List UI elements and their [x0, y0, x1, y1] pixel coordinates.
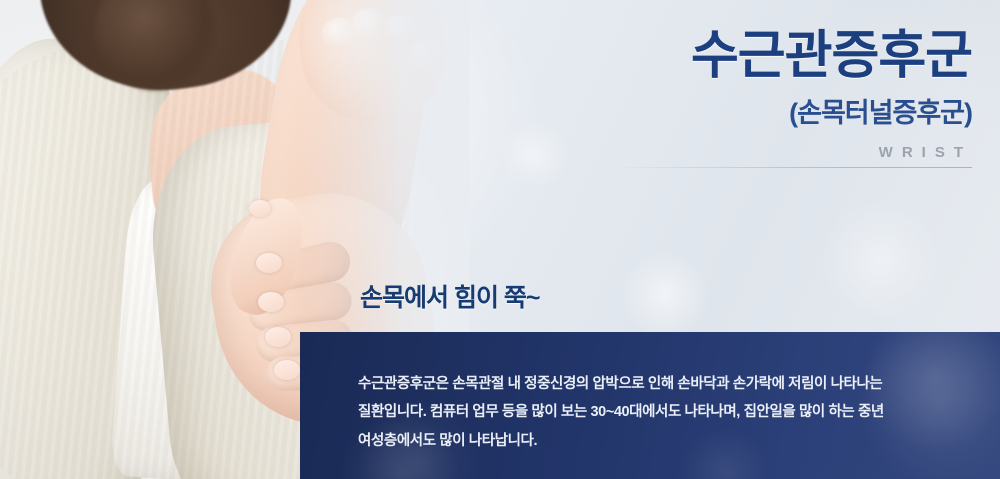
nail-middle [258, 292, 284, 312]
wrist-syndrome-banner: 수근관증후군 (손목터널증후군) WRIST 손목에서 힘이 쭉~ 수근관증후군… [0, 0, 1000, 479]
title-divider [612, 167, 972, 168]
page-subtitle: (손목터널증후군) [612, 91, 972, 130]
description-line-1: 수근관증후군은 손목관절 내 정중신경의 압박으로 인해 손바닥과 손가락에 저… [358, 370, 960, 398]
description-text: 수근관증후군은 손목관절 내 정중신경의 압박으로 인해 손바닥과 손가락에 저… [300, 332, 1000, 455]
nail-little [274, 360, 300, 380]
page-title: 수근관증후군 [612, 28, 972, 85]
page-title-english: WRIST [612, 144, 972, 161]
description-panel: 수근관증후군은 손목관절 내 정중신경의 압박으로 인해 손바닥과 손가락에 저… [300, 332, 1000, 479]
bokeh-light-3 [500, 120, 570, 190]
nail-index [256, 253, 282, 273]
tagline: 손목에서 힘이 쭉~ [360, 278, 540, 314]
description-line-3: 여성층에서도 많이 나타납니다. [358, 427, 960, 455]
description-line-2: 질환입니다. 컴퓨터 업무 등을 많이 보는 30~40대에서도 나타나며, 집… [358, 398, 960, 426]
nail-ring [265, 327, 291, 347]
nail-thumb [249, 200, 271, 217]
bokeh-light-2 [820, 200, 940, 320]
title-block: 수근관증후군 (손목터널증후군) WRIST [612, 28, 972, 168]
bokeh-light-1 [620, 250, 710, 340]
